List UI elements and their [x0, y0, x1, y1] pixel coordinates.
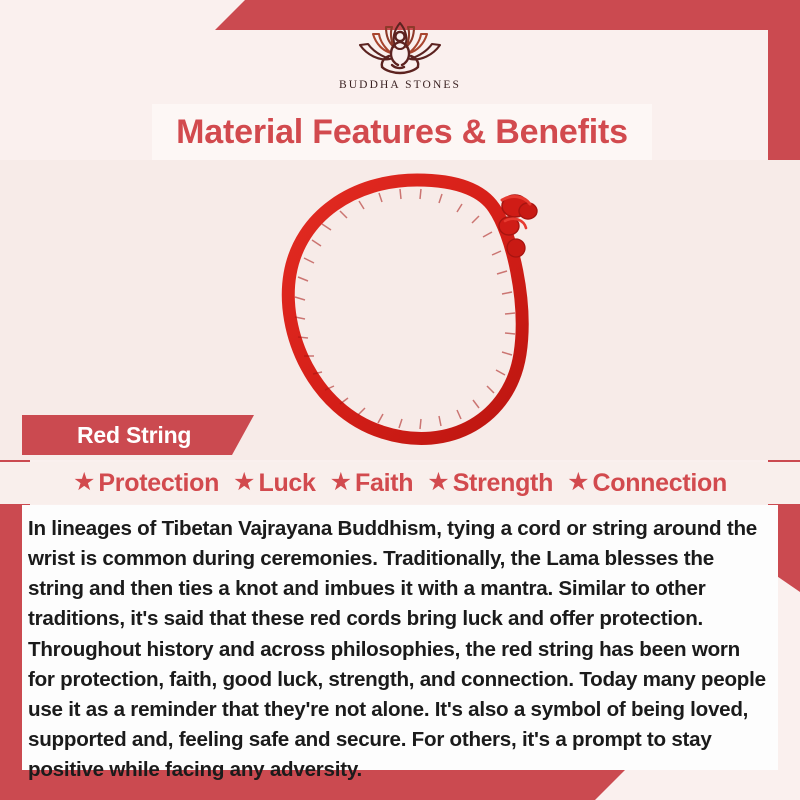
star-icon: ★: [330, 470, 352, 495]
brand-logo: BUDDHA STONES: [0, 14, 800, 102]
description-panel: In lineages of Tibetan Vajrayana Buddhis…: [22, 505, 778, 770]
star-icon: ★: [427, 470, 449, 495]
page-title-text: Material Features & Benefits: [176, 113, 628, 152]
benefit-item: ★ Connection: [562, 469, 732, 498]
product-label-text: Red String: [22, 422, 191, 449]
benefit-item: ★ Strength: [422, 469, 558, 498]
page-title: Material Features & Benefits: [152, 104, 652, 160]
star-icon: ★: [233, 470, 255, 495]
benefit-label: Connection: [592, 469, 727, 498]
lotus-meditation-icon: [348, 14, 452, 78]
benefits-list: ★ Protection ★ Luck ★ Faith ★ Strength ★…: [0, 462, 800, 504]
benefit-label: Faith: [355, 469, 413, 498]
benefit-item: ★ Luck: [228, 469, 321, 498]
benefit-item: ★ Faith: [325, 469, 419, 498]
benefit-label: Protection: [98, 469, 219, 498]
product-label-ribbon: Red String: [22, 415, 254, 455]
benefit-label: Luck: [258, 469, 315, 498]
poster-root: BUDDHA STONES Material Features & Benefi…: [0, 0, 800, 800]
brand-name: BUDDHA STONES: [339, 79, 461, 91]
star-icon: ★: [567, 470, 589, 495]
benefit-label: Strength: [453, 469, 553, 498]
description-text: In lineages of Tibetan Vajrayana Buddhis…: [22, 505, 778, 785]
benefit-item: ★ Protection: [68, 469, 224, 498]
red-string-braided-bracelet-image: [262, 164, 572, 454]
star-icon: ★: [73, 470, 95, 495]
